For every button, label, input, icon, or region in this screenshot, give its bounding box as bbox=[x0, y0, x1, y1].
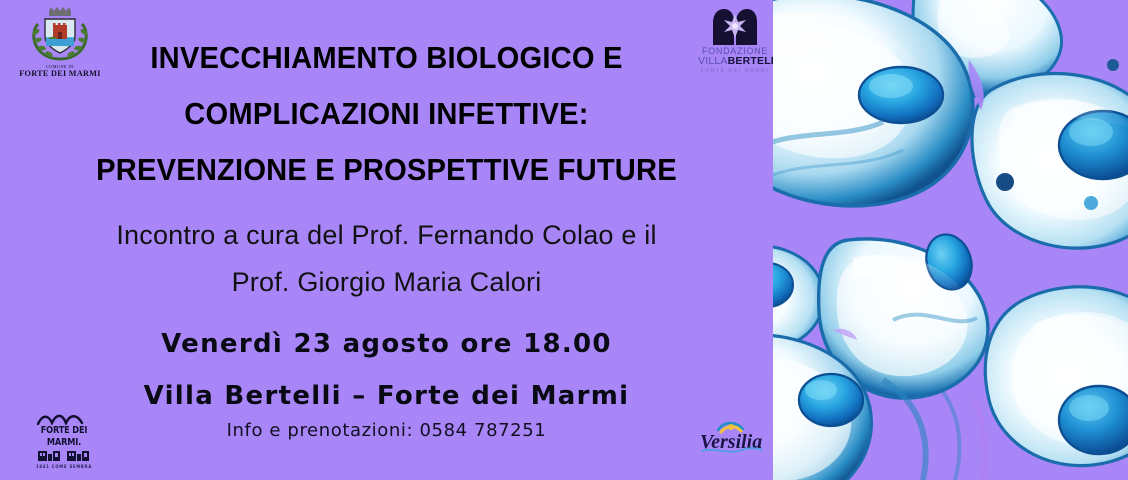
title-line-3: PREVENZIONE E PROSPETTIVE FUTURE bbox=[23, 142, 750, 198]
info-booking-line: Info e prenotazioni: 0584 787251 bbox=[0, 420, 773, 441]
event-date: Venerdì 23 agosto ore 18.00 bbox=[0, 318, 773, 370]
abstract-cell-bubble-illustration bbox=[773, 0, 1128, 480]
versilia-logo: Versilia bbox=[694, 418, 774, 458]
forte-dei-marmi-tagline: 1841 COME SEMBRA bbox=[23, 464, 106, 469]
forte-dei-marmi-name-text: FORTE DEI MARMI. bbox=[26, 425, 101, 448]
title-line-1: INVECCHIAMENTO BIOLOGICO E bbox=[23, 30, 750, 86]
poster-text-panel: COMUNE DI FORTE DEI MARMI FONDAZIONE bbox=[0, 0, 773, 480]
mountains-icon bbox=[18, 412, 110, 425]
event-venue: Villa Bertelli – Forte dei Marmi bbox=[0, 370, 773, 422]
event-poster: COMUNE DI FORTE DEI MARMI FONDAZIONE bbox=[0, 0, 1128, 480]
presenter-line-1: Incontro a cura del Prof. Fernando Colao… bbox=[0, 212, 773, 259]
forte-dei-marmi-tourism-logo: FORTE DEI MARMI. bbox=[18, 412, 110, 466]
poster-presenters: Incontro a cura del Prof. Fernando Colao… bbox=[0, 212, 773, 306]
decorative-glyphs-icon bbox=[18, 449, 110, 463]
poster-title: INVECCHIAMENTO BIOLOGICO E COMPLICAZIONI… bbox=[0, 30, 773, 198]
title-line-2: COMPLICAZIONI INFETTIVE: bbox=[23, 86, 750, 142]
poster-event-details: Venerdì 23 agosto ore 18.00 Villa Bertel… bbox=[0, 318, 773, 422]
presenter-line-2: Prof. Giorgio Maria Calori bbox=[0, 259, 773, 306]
